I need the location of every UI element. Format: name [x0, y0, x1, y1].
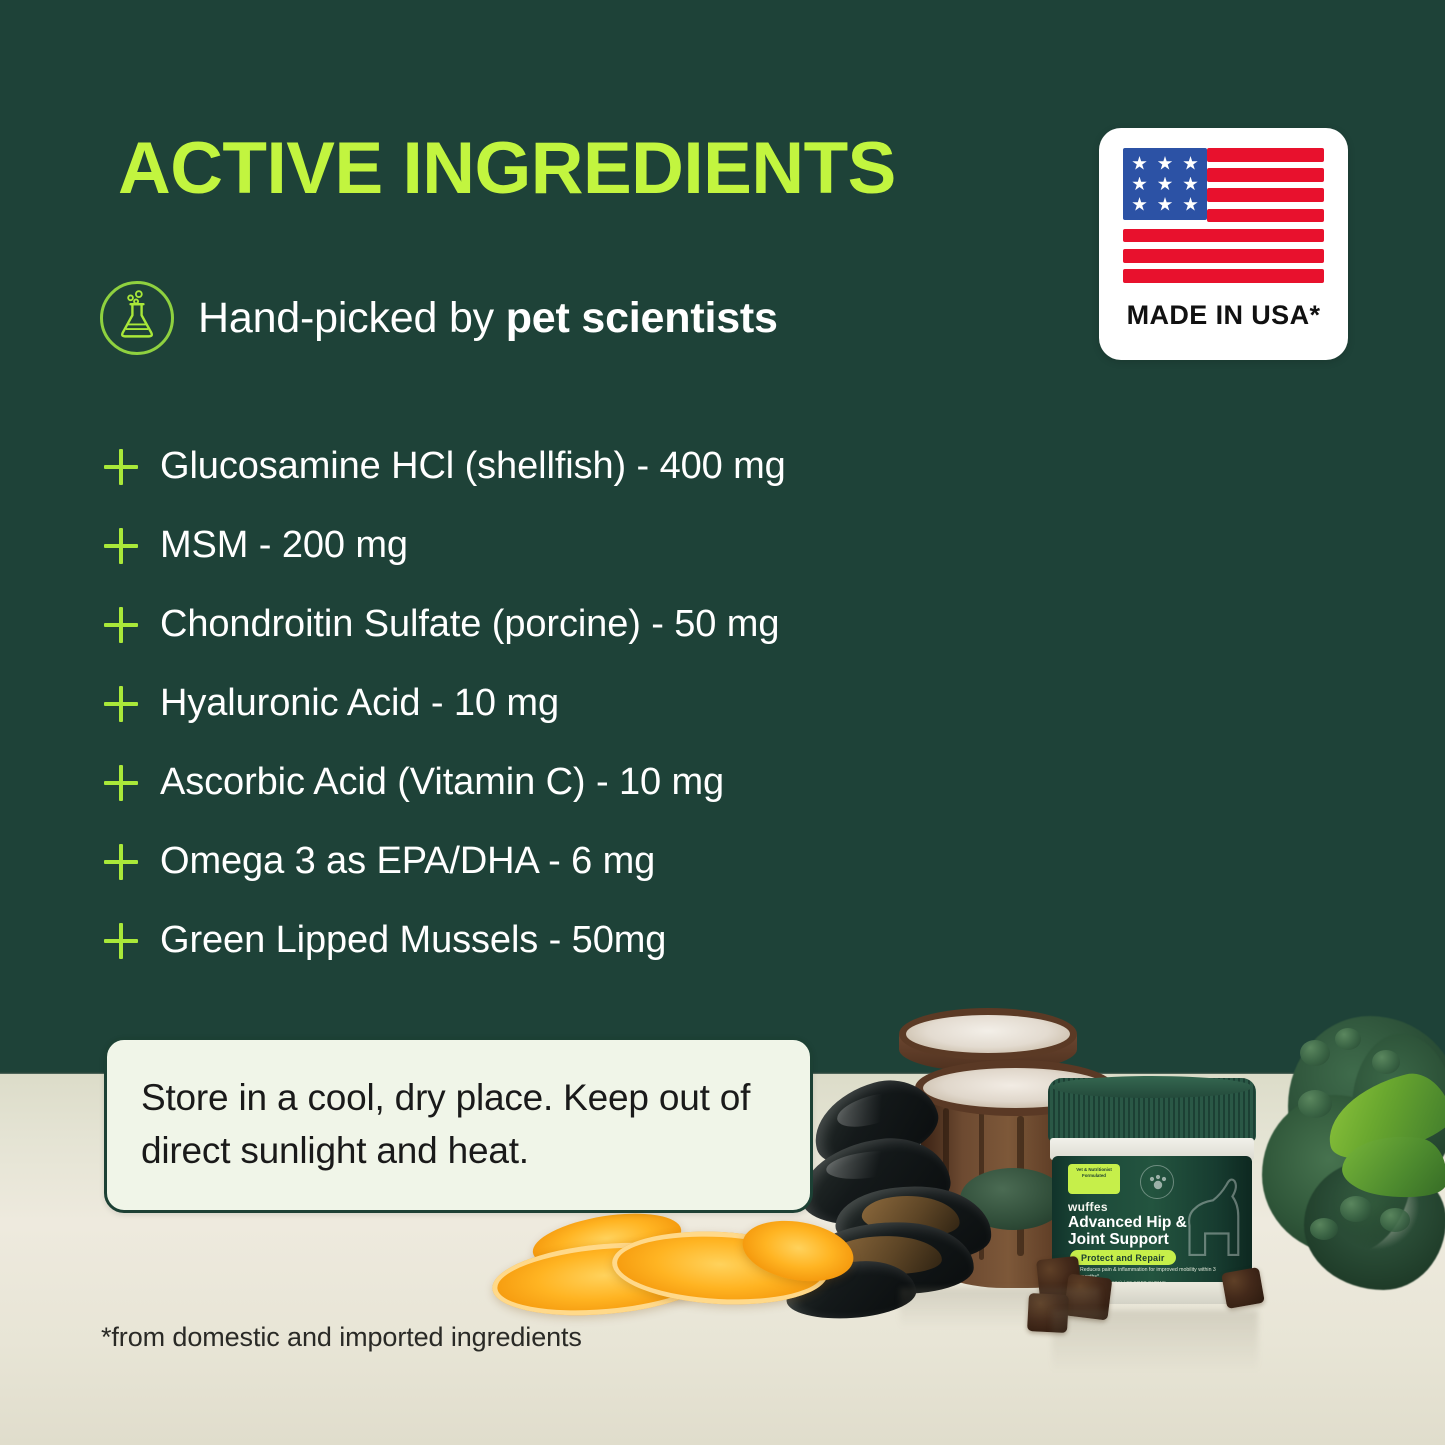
plus-icon — [104, 842, 160, 882]
flask-icon — [100, 281, 174, 355]
list-item: Ascorbic Acid (Vitamin C) - 10 mg — [104, 743, 1004, 822]
ingredient-label: Chondroitin Sulfate (porcine) - 50 mg — [160, 603, 779, 646]
subtitle-bold: pet scientists — [506, 294, 778, 342]
content-layer: ACTIVE INGREDIENTS Hand-picked by pet sc… — [0, 0, 1445, 1445]
ingredient-label: Ascorbic Acid (Vitamin C) - 10 mg — [160, 761, 724, 804]
plus-icon — [104, 605, 160, 645]
usa-flag-icon — [1123, 148, 1324, 289]
list-item: MSM - 200 mg — [104, 506, 1004, 585]
ingredient-label: Glucosamine HCl (shellfish) - 400 mg — [160, 445, 786, 488]
ingredients-list: Glucosamine HCl (shellfish) - 400 mg MSM… — [104, 427, 1004, 980]
storage-note-box: Store in a cool, dry place. Keep out of … — [104, 1037, 813, 1213]
made-in-usa-badge: MADE IN USA* — [1099, 128, 1348, 360]
list-item: Hyaluronic Acid - 10 mg — [104, 664, 1004, 743]
plus-icon — [104, 447, 160, 487]
ingredient-label: Green Lipped Mussels - 50mg — [160, 919, 666, 962]
made-in-usa-label: MADE IN USA* — [1099, 300, 1348, 331]
list-item: Green Lipped Mussels - 50mg — [104, 901, 1004, 980]
list-item: Omega 3 as EPA/DHA - 6 mg — [104, 822, 1004, 901]
ingredient-label: MSM - 200 mg — [160, 524, 408, 567]
subtitle-regular: Hand-picked by — [198, 294, 506, 342]
plus-icon — [104, 526, 160, 566]
subtitle-text: Hand-picked by pet scientists — [198, 294, 778, 343]
storage-note-text: Store in a cool, dry place. Keep out of … — [107, 1072, 810, 1177]
plus-icon — [104, 763, 160, 803]
flag-canton — [1123, 148, 1207, 220]
footnote: *from domestic and imported ingredients — [101, 1322, 582, 1353]
infographic-canvas: Vet & Nutritionist Formulated wuffes Adv… — [0, 0, 1445, 1445]
list-item: Chondroitin Sulfate (porcine) - 50 mg — [104, 585, 1004, 664]
ingredient-label: Omega 3 as EPA/DHA - 6 mg — [160, 840, 655, 883]
page-title: ACTIVE INGREDIENTS — [118, 132, 896, 205]
plus-icon — [104, 684, 160, 724]
list-item: Glucosamine HCl (shellfish) - 400 mg — [104, 427, 1004, 506]
subtitle-row: Hand-picked by pet scientists — [100, 281, 778, 355]
ingredient-label: Hyaluronic Acid - 10 mg — [160, 682, 559, 725]
plus-icon — [104, 921, 160, 961]
